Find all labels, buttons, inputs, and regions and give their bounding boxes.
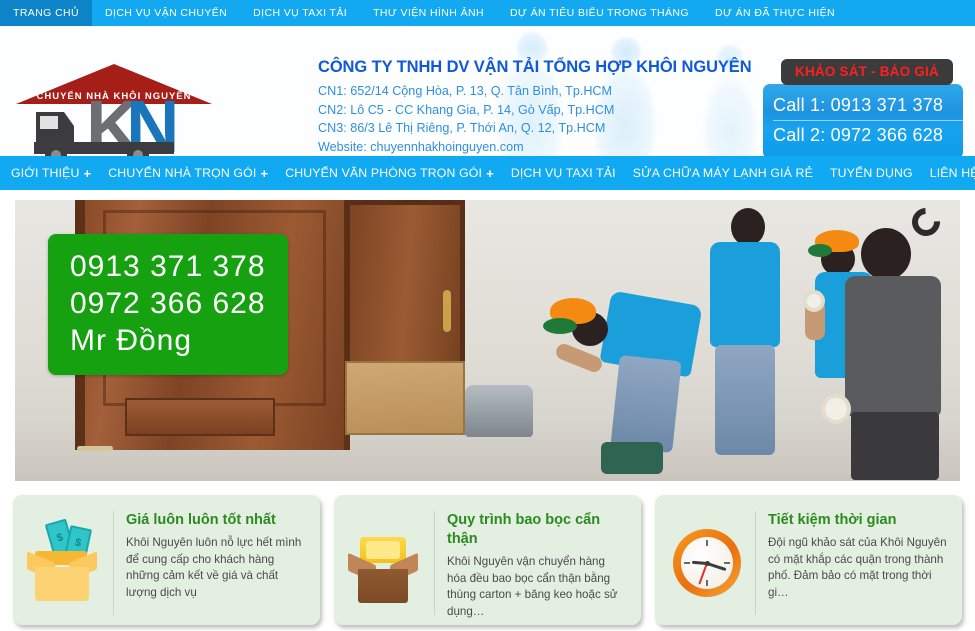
money-box-icon (25, 519, 103, 605)
survey-quote-badge[interactable]: KHẢO SÁT - BÁO GIÁ (781, 59, 953, 85)
call-numbers-panel: Call 1: 0913 371 378 Call 2: 0972 366 62… (763, 84, 963, 156)
topnav-label: TRANG CHỦ (13, 7, 79, 19)
card-text: Đội ngũ khảo sát của Khôi Nguyên có mặt … (768, 535, 948, 601)
company-branch-3: CN3: 86/3 Lê Thị Riêng, P. Thới An, Q. 1… (318, 119, 752, 138)
feature-card-time-saving[interactable]: Tiết kiệm thời gian Đội ngũ khảo sát của… (655, 495, 962, 625)
feature-card-best-price[interactable]: Giá luôn luôn tốt nhất Khôi Nguyên luôn … (13, 495, 320, 625)
feature-card-careful-packing[interactable]: Quy trình bao bọc cẩn thận Khôi Nguyên v… (334, 495, 641, 625)
topnav-item-trang-chu[interactable]: TRANG CHỦ (0, 0, 92, 26)
call-number-2[interactable]: Call 2: 0972 366 628 (773, 121, 963, 150)
carton-box-icon (346, 519, 424, 605)
nav-item-gioi-thieu[interactable]: GIỚI THIỆU + (11, 166, 91, 181)
hero-phone-1: 0913 371 378 (70, 248, 266, 285)
topnav-item-du-an-tieu-bieu[interactable]: DỰ ÁN TIÊU BIỂU TRONG THÁNG (497, 0, 702, 26)
card-divider (113, 511, 114, 615)
hero-contact-name: Mr Đồng (70, 322, 266, 359)
feature-cards: Giá luôn luôn tốt nhất Khôi Nguyên luôn … (13, 495, 962, 625)
card-divider (755, 511, 756, 615)
call-number-1[interactable]: Call 1: 0913 371 378 (773, 93, 963, 121)
card-text: Khôi Nguyên vận chuyển hàng hóa đều bao … (447, 554, 627, 620)
card-title: Tiết kiệm thời gian (768, 511, 948, 530)
nav-label: SỬA CHỮA MÁY LẠNH GIÁ RẺ (633, 166, 813, 180)
nav-item-sua-chua-may-lanh[interactable]: SỬA CHỮA MÁY LẠNH GIÁ RẺ (633, 166, 813, 180)
nav-label: CHUYỂN NHÀ TRỌN GÓI (108, 166, 256, 180)
card-text: Khôi Nguyên luôn nỗ lực hết mình để cung… (126, 535, 306, 601)
nav-label: CHUYỂN VĂN PHÒNG TRỌN GÓI (285, 166, 482, 180)
company-website[interactable]: Website: chuyennhakhoinguyen.com (318, 138, 752, 157)
company-branch-2: CN2: Lô C5 - CC Khang Gia, P. 14, Gò Vấp… (318, 101, 752, 120)
hero-phone-2: 0972 366 628 (70, 285, 266, 322)
topnav-item-dich-vu-taxi-tai[interactable]: DỊCH VỤ TAXI TẢI (240, 0, 360, 26)
plus-icon: + (486, 166, 494, 181)
topnav-item-du-an-da-thuc-hien[interactable]: DỰ ÁN ĐÃ THỰC HIỆN (702, 0, 848, 26)
call-box-widget: KHẢO SÁT - BÁO GIÁ Call 1: 0913 371 378 … (763, 68, 963, 156)
clock-icon (667, 519, 745, 605)
top-utility-nav: TRANG CHỦ DỊCH VỤ VẬN CHUYỂN DỊCH VỤ TAX… (0, 0, 975, 26)
nav-label: TUYỂN DỤNG (830, 166, 913, 180)
topnav-label: DỰ ÁN ĐÃ THỰC HIỆN (715, 7, 835, 19)
topnav-label: THƯ VIỆN HÌNH ẢNH (373, 7, 484, 19)
main-navigation: GIỚI THIỆU + CHUYỂN NHÀ TRỌN GÓI + CHUYỂ… (0, 156, 975, 190)
nav-item-chuyen-van-phong-tron-goi[interactable]: CHUYỂN VĂN PHÒNG TRỌN GÓI + (285, 166, 494, 181)
nav-item-lien-he[interactable]: LIÊN HỆ: 0913 371 378 (930, 166, 975, 180)
topnav-label: DỊCH VỤ VẬN CHUYỂN (105, 7, 227, 19)
nav-label: GIỚI THIỆU (11, 166, 80, 180)
company-name: CÔNG TY TNHH DV VẬN TẢI TỔNG HỢP KHÔI NG… (318, 58, 752, 77)
company-info-block: CÔNG TY TNHH DV VẬN TẢI TỔNG HỢP KHÔI NG… (318, 58, 752, 156)
hero-slider[interactable]: 0913 371 378 0972 366 628 Mr Đồng (15, 200, 960, 481)
topnav-item-thu-vien-hinh-anh[interactable]: THƯ VIỆN HÌNH ẢNH (360, 0, 497, 26)
card-divider (434, 511, 435, 615)
topnav-label: DỰ ÁN TIÊU BIỂU TRONG THÁNG (510, 7, 689, 19)
nav-item-dich-vu-taxi-tai[interactable]: DỊCH VỤ TAXI TẢI (511, 166, 616, 180)
logo-graphic: CHUYỂN NHÀ KHÔI NGUYÊN K N (14, 56, 214, 156)
company-logo[interactable]: CHUYỂN NHÀ KHÔI NGUYÊN K N (14, 56, 214, 156)
topnav-item-dich-vu-van-chuyen[interactable]: DỊCH VỤ VẬN CHUYỂN (92, 0, 240, 26)
topnav-label: DỊCH VỤ TAXI TẢI (253, 7, 347, 19)
nav-item-chuyen-nha-tron-goi[interactable]: CHUYỂN NHÀ TRỌN GÓI + (108, 166, 268, 181)
card-title: Giá luôn luôn tốt nhất (126, 511, 306, 530)
hero-phone-overlay[interactable]: 0913 371 378 0972 366 628 Mr Đồng (48, 234, 288, 375)
company-branch-1: CN1: 652/14 Cộng Hòa, P. 13, Q. Tân Bình… (318, 82, 752, 101)
plus-icon: + (260, 166, 268, 181)
nav-item-tuyen-dung[interactable]: TUYỂN DỤNG (830, 166, 913, 180)
plus-icon: + (84, 166, 92, 181)
card-title: Quy trình bao bọc cẩn thận (447, 511, 627, 549)
nav-label: LIÊN HỆ: 0913 371 378 (930, 166, 975, 180)
site-header: CHUYỂN NHÀ KHÔI NGUYÊN K N CÔNG TY TNHH … (0, 26, 975, 156)
nav-label: DỊCH VỤ TAXI TẢI (511, 166, 616, 180)
